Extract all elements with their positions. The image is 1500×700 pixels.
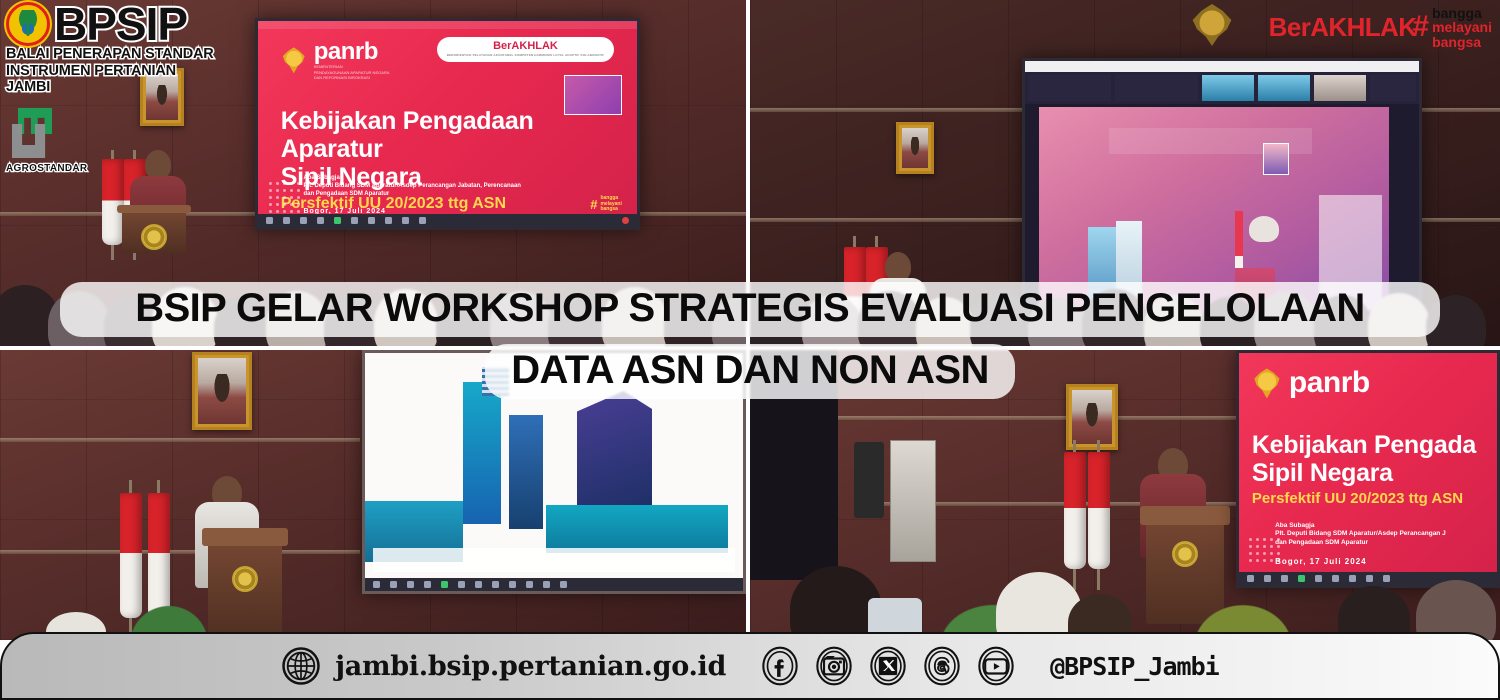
presenter-role-2: dan Pengadaan SDM Aparatur	[1275, 539, 1446, 548]
slide-title-line2: Sipil Negara	[1252, 459, 1484, 487]
washed-slide	[365, 353, 743, 591]
projection-screen-top-left: panrb KEMENTERIAN PENDAYAGUNAAN APARATUR…	[255, 18, 640, 230]
zoom-toolbar-bottom-left	[365, 578, 743, 591]
bangga-melayani-bangsa-stack: bangga melayani bangsa	[1432, 6, 1492, 49]
bmb-line2: melayani	[1432, 20, 1492, 34]
podium	[122, 205, 186, 253]
bpsip-initials: BPSIP	[54, 3, 187, 45]
x-twitter-icon[interactable]	[868, 646, 908, 686]
slide-title-line1: Kebijakan Pengada	[1252, 431, 1484, 459]
president-portrait	[896, 122, 934, 174]
zoom-participant-strip	[1025, 72, 1419, 104]
slide-hash-icon: #	[590, 197, 597, 212]
slide-bangga-melayani-bangsa: # bangga melayani bangsa	[590, 196, 622, 213]
bmb-line3: bangsa	[1432, 35, 1492, 49]
slide-dot-pattern	[269, 182, 300, 213]
slide-subtitle: Persfektif UU 20/2023 ttg ASN	[1252, 490, 1484, 508]
slide-chip-sub: BERORIENTASI PELAYANAN AKUNTABEL KOMPETE…	[447, 54, 605, 57]
panrb-wordmark: panrb	[314, 40, 390, 64]
berakhlak-logo-overlay: BerAKHLAK # bangga melayani bangsa	[1269, 6, 1492, 49]
globe-icon	[281, 646, 321, 686]
bmb-line1: bangga	[1432, 6, 1492, 20]
youtube-icon[interactable]	[976, 646, 1016, 686]
agrostandar-logo-block: AGROSTANDAR	[6, 104, 76, 174]
photo-collage-grid: panrb KEMENTERIAN PENDAYAGUNAAN APARATUR…	[0, 0, 1500, 700]
ministry-of-agriculture-seal-icon	[6, 2, 50, 46]
slide-byline: Aba Subagja Plt. Deputi Bidang SDM Apara…	[303, 174, 521, 198]
footer-bar: jambi.bsip.pertanian.go.id	[0, 632, 1500, 700]
slide-bmb-3: bangsa	[600, 207, 621, 213]
photo-top-right-zoom-screen	[750, 0, 1500, 346]
panrb-slide-right: panrb Kebijakan Pengada Sipil Negara Per…	[1239, 353, 1497, 585]
presenter-name: Aba Subagja	[303, 174, 521, 182]
zoom-toolbar-top-left	[258, 214, 637, 227]
instagram-icon[interactable]	[814, 646, 854, 686]
slide-picture-in-picture	[564, 75, 622, 115]
presenter-name: Aba Subagja	[1275, 522, 1446, 531]
garuda-icon	[281, 47, 307, 73]
panrb-sub-3: DAN REFORMASI BIROKRASI	[314, 76, 390, 81]
facebook-icon[interactable]	[760, 646, 800, 686]
panrb-wordmark: panrb	[1289, 368, 1370, 398]
pa-speaker	[854, 442, 884, 518]
slide-byline: Aba Subagja Plt. Deputi Bidang SDM Apara…	[1275, 522, 1446, 548]
agrostandar-label: AGROSTANDAR	[6, 163, 76, 174]
slide-topbar	[258, 21, 637, 29]
air-conditioner	[890, 440, 936, 562]
garuda-icon	[1252, 368, 1282, 398]
wall-railing	[0, 438, 360, 442]
agrostandar-logo-icon	[6, 104, 64, 162]
podium	[208, 528, 282, 640]
bpsip-logo-block: BPSIP BALAI PENERAPAN STANDAR INSTRUMEN …	[6, 2, 216, 174]
zoom-titlebar	[1025, 61, 1419, 72]
presenter-role-1: Plt. Deputi Bidang SDM Aparatur/Asdep Pe…	[1275, 530, 1446, 539]
stage-curtain	[750, 350, 838, 580]
bpsip-subtitle-line1: BALAI PENERAPAN STANDAR	[6, 47, 216, 63]
photo-bottom-left-speaker-podium	[0, 350, 746, 640]
panrb-logo: panrb	[1252, 368, 1484, 398]
audience-silhouettes	[750, 270, 1500, 346]
wall-railing	[0, 550, 360, 554]
bpsip-subtitle-line2: INSTRUMEN PERTANIAN	[6, 64, 216, 80]
projection-screen-bottom-left	[362, 350, 746, 594]
slide-bmb-text: bangga melayani bangsa	[600, 196, 621, 213]
slide-title-line1: Kebijakan Pengadaan Aparatur	[281, 107, 615, 163]
berakhlak-wordmark: BerAKHLAK	[1269, 12, 1417, 43]
poster-canvas: panrb KEMENTERIAN PENDAYAGUNAAN APARATUR…	[0, 0, 1500, 700]
president-portrait	[192, 352, 252, 430]
presenter-role-1: Plt. Deputi Bidang SDM Aparatur/Asdep Pe…	[303, 182, 521, 190]
social-handle[interactable]: @BPSIP_Jambi	[1050, 652, 1219, 681]
slide-berakhlak-chip: BerAKHLAK BERORIENTASI PELAYANAN AKUNTAB…	[437, 37, 615, 62]
bpsip-logo-row: BPSIP	[6, 2, 216, 46]
threads-icon[interactable]	[922, 646, 962, 686]
audience-silhouettes	[750, 553, 1500, 640]
audience-silhouettes	[0, 270, 746, 346]
website-url[interactable]: jambi.bsip.pertanian.go.id	[335, 651, 726, 682]
panrb-sub-1: KEMENTERIAN	[314, 65, 390, 70]
slide-chip-word: BerAKHLAK	[447, 41, 605, 52]
bpsip-subtitle-line3: JAMBI	[6, 80, 216, 96]
panrb-slide: panrb KEMENTERIAN PENDAYAGUNAAN APARATUR…	[258, 21, 637, 227]
photo-bottom-right-speaker-slide: panrb Kebijakan Pengada Sipil Negara Per…	[750, 350, 1500, 640]
hash-icon: #	[1412, 10, 1429, 44]
presenter-role-2: dan Pengadaan SDM Aparatur	[303, 190, 521, 198]
